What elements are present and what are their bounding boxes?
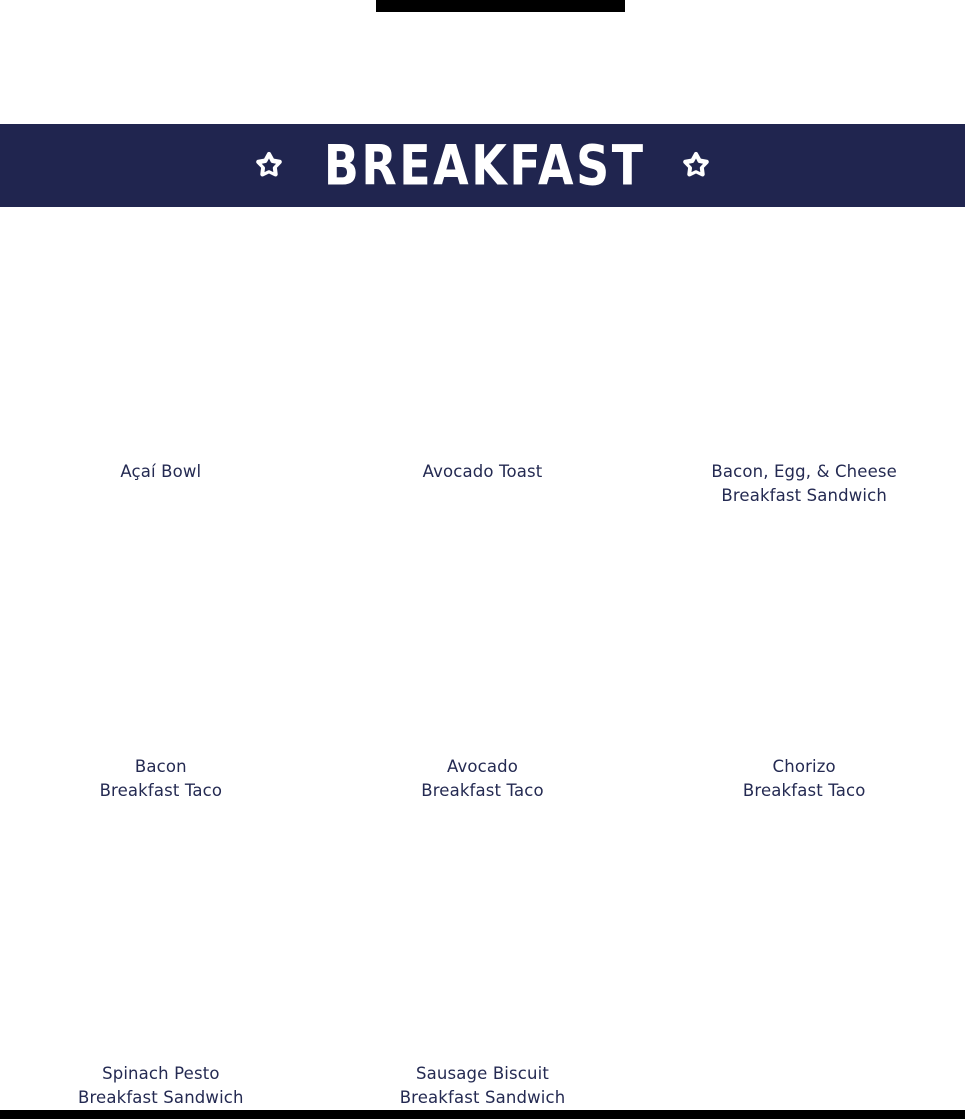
- menu-row: Spinach Pesto Breakfast Sandwich Sausage…: [0, 817, 965, 1110]
- banner-spacer: [0, 12, 965, 124]
- menu-item-image[interactable]: [643, 207, 965, 460]
- menu-item-label: Bacon Breakfast Taco: [94, 755, 229, 803]
- star-icon-left: [251, 148, 287, 184]
- bottom-black-bar: [0, 1110, 965, 1119]
- menu-item[interactable]: Sausage Biscuit Breakfast Sandwich: [322, 817, 644, 1110]
- menu-item[interactable]: Spinach Pesto Breakfast Sandwich: [0, 817, 322, 1110]
- star-icon-right: [678, 148, 714, 184]
- menu-item[interactable]: Açaí Bowl: [0, 207, 322, 512]
- menu-item-image[interactable]: [643, 512, 965, 755]
- menu-item[interactable]: Avocado Toast: [322, 207, 644, 512]
- menu-row: Açaí Bowl Avocado Toast Bacon, Egg, & Ch…: [0, 207, 965, 512]
- menu-item-label: Chorizo Breakfast Taco: [737, 755, 872, 803]
- page-title: BREAKFAST: [324, 138, 646, 193]
- menu-item[interactable]: [643, 817, 965, 1110]
- menu-grid: Açaí Bowl Avocado Toast Bacon, Egg, & Ch…: [0, 207, 965, 1110]
- breakfast-section-banner: BREAKFAST: [0, 124, 965, 207]
- menu-item[interactable]: Bacon Breakfast Taco: [0, 512, 322, 817]
- menu-item-image[interactable]: [322, 512, 644, 755]
- menu-item-image[interactable]: [322, 207, 644, 460]
- menu-row: Bacon Breakfast Taco Avocado Breakfast T…: [0, 512, 965, 817]
- menu-item-label: Avocado Breakfast Taco: [415, 755, 550, 803]
- menu-item-image[interactable]: [0, 817, 322, 1062]
- menu-item-label: Açaí Bowl: [114, 460, 207, 484]
- menu-item-image[interactable]: [0, 512, 322, 755]
- menu-item-label: Bacon, Egg, & Cheese Breakfast Sandwich: [705, 460, 903, 508]
- menu-item-label: Spinach Pesto Breakfast Sandwich: [72, 1062, 250, 1110]
- menu-item-image[interactable]: [322, 817, 644, 1062]
- menu-item[interactable]: Bacon, Egg, & Cheese Breakfast Sandwich: [643, 207, 965, 512]
- menu-item[interactable]: Avocado Breakfast Taco: [322, 512, 644, 817]
- menu-item-label: Sausage Biscuit Breakfast Sandwich: [394, 1062, 572, 1110]
- menu-item-image[interactable]: [0, 207, 322, 460]
- menu-item-label: Avocado Toast: [417, 460, 549, 484]
- menu-item[interactable]: Chorizo Breakfast Taco: [643, 512, 965, 817]
- banner-content: BREAKFAST: [251, 143, 714, 188]
- top-black-bar: [376, 0, 625, 12]
- menu-item-image[interactable]: [643, 817, 965, 1065]
